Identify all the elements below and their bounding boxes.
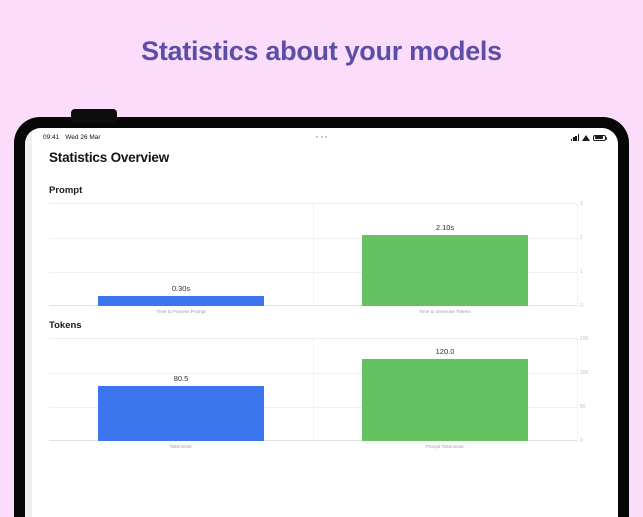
y-tick-label: 0 [580, 303, 598, 309]
y-axis-line [577, 339, 578, 441]
chart-tokens-plot: 150 100 50 0 80.5 [49, 338, 577, 441]
bar-value-label: 120.0 [362, 347, 528, 356]
screen-edge-strip [25, 128, 32, 517]
bar-prompt-tokens-per-sec[interactable]: 120.0 [362, 359, 528, 441]
y-tick-label: 0 [580, 438, 598, 444]
y-tick-label: 2 [580, 235, 598, 241]
bar-value-label: 0.30s [98, 284, 264, 293]
bar-column: 0.30s [49, 204, 313, 306]
page-title: Statistics Overview [49, 150, 601, 165]
handle-dot [316, 136, 318, 138]
chart-prompt: 3 2 1 0 0.30s 2.10 [49, 203, 601, 305]
app-content: Statistics Overview Prompt 3 2 1 0 [25, 143, 618, 440]
bar-value-label: 80.5 [98, 374, 264, 383]
tablet-device-frame: 09:41 Wed 26 Mar Statistics Overview Pro… [14, 117, 629, 517]
bar-time-to-generate-tokens[interactable]: 2.10s [362, 235, 528, 306]
x-axis-label: Time to Process Prompt [49, 309, 313, 314]
x-axis-label: Prompt Tokens/sec [313, 444, 577, 449]
chart-tokens-x-labels: Tokens/sec Prompt Tokens/sec [49, 444, 577, 449]
section-title-prompt: Prompt [49, 185, 601, 196]
chart-tokens: 150 100 50 0 80.5 [49, 338, 601, 440]
section-prompt: Prompt 3 2 1 0 [49, 185, 601, 305]
chart-prompt-plot: 3 2 1 0 0.30s 2.10 [49, 203, 577, 306]
bar-column: 120.0 [313, 339, 577, 441]
y-axis-line [577, 204, 578, 306]
promo-headline: Statistics about your models [0, 36, 643, 67]
handle-dot [325, 136, 327, 138]
y-tick-label: 1 [580, 269, 598, 275]
y-tick-label: 100 [580, 370, 598, 376]
bar-tokens-per-sec[interactable]: 80.5 [98, 386, 264, 441]
chart-prompt-bars: 0.30s 2.10s [49, 204, 577, 306]
chart-tokens-bars: 80.5 120.0 [49, 339, 577, 441]
battery-icon [593, 135, 606, 142]
bar-value-label: 2.10s [362, 223, 528, 232]
tablet-screen: 09:41 Wed 26 Mar Statistics Overview Pro… [25, 128, 618, 517]
wifi-icon [582, 134, 590, 141]
chart-prompt-x-labels: Time to Process Prompt Time to Generate … [49, 309, 577, 314]
camera-housing [71, 109, 117, 123]
bar-time-to-process-prompt[interactable]: 0.30s [98, 296, 264, 306]
y-tick-label: 150 [580, 336, 598, 342]
bar-column: 80.5 [49, 339, 313, 441]
status-bar: 09:41 Wed 26 Mar [25, 128, 618, 143]
y-tick-label: 3 [580, 201, 598, 207]
x-axis-label: Tokens/sec [49, 444, 313, 449]
x-axis-label: Time to Generate Tokens [313, 309, 577, 314]
section-tokens: Tokens 150 100 50 0 [49, 320, 601, 440]
section-title-tokens: Tokens [49, 320, 601, 331]
multitasking-handle[interactable] [25, 136, 618, 138]
bar-column: 2.10s [313, 204, 577, 306]
handle-dot [321, 136, 323, 138]
y-tick-label: 50 [580, 404, 598, 410]
